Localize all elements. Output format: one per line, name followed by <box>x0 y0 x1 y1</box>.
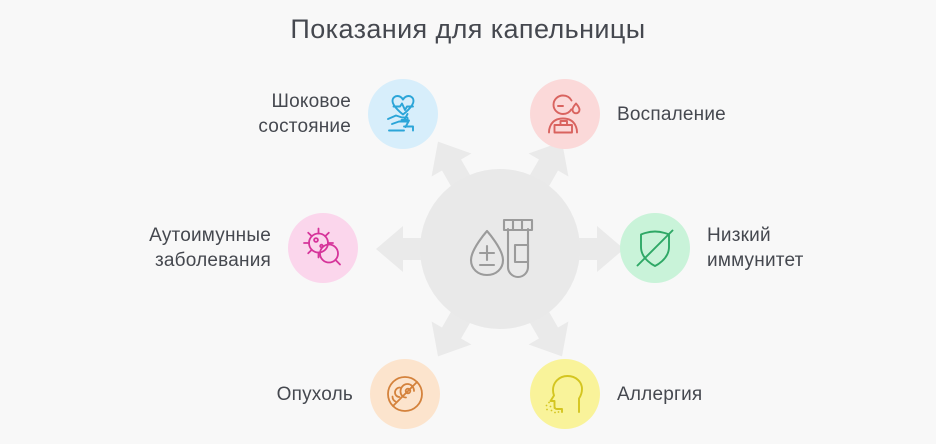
tumor-cell-forbidden-icon <box>382 371 428 417</box>
node-allergy-bubble <box>530 359 600 429</box>
node-low-immunity[interactable]: Низкий иммунитет <box>620 212 930 284</box>
node-low-immunity-label: Низкий иммунитет <box>707 223 804 273</box>
person-fever-bandage-icon <box>542 91 588 137</box>
head-profile-rash-icon <box>542 371 588 417</box>
center-hub <box>420 169 580 329</box>
node-shock-label: Шоковое состояние <box>258 89 351 139</box>
node-tumor[interactable]: Опухоль <box>80 358 440 430</box>
node-tumor-bubble <box>370 359 440 429</box>
page-title: Показания для капельницы <box>0 14 936 45</box>
node-shock[interactable]: Шоковое состояние <box>30 78 438 150</box>
node-allergy[interactable]: Аллергия <box>530 358 860 430</box>
blood-drop-test-tube-icon <box>458 207 542 291</box>
shield-crossed-out-icon <box>632 225 678 271</box>
node-tumor-label: Опухоль <box>277 382 353 407</box>
germ-magnifier-icon <box>300 225 346 271</box>
node-low-immunity-bubble <box>620 213 690 283</box>
node-allergy-label: Аллергия <box>617 382 702 407</box>
node-inflammation[interactable]: Воспаление <box>530 78 930 150</box>
node-shock-bubble <box>368 79 438 149</box>
heart-hand-pulse-icon <box>380 91 426 137</box>
node-inflammation-label: Воспаление <box>617 102 726 127</box>
node-autoimmune-bubble <box>288 213 358 283</box>
infographic-page: Показания для капельницы <box>0 0 936 444</box>
node-inflammation-bubble <box>530 79 600 149</box>
node-autoimmune-label: Аутоимунные заболевания <box>149 223 271 273</box>
node-autoimmune[interactable]: Аутоимунные заболевания <box>20 212 358 284</box>
